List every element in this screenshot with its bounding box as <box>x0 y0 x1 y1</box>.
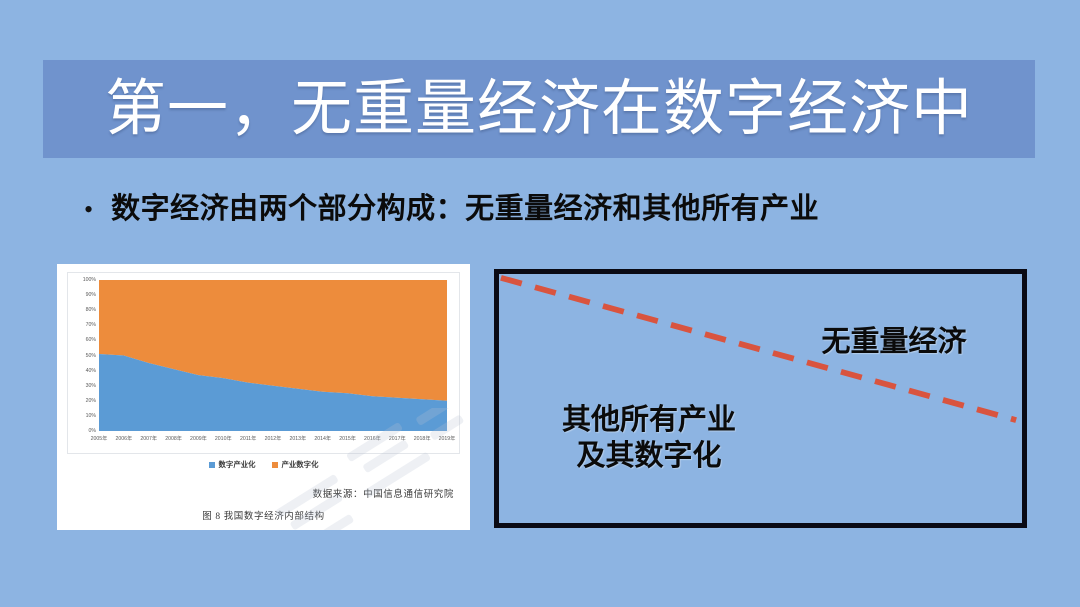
chart-x-tick: 2012年 <box>265 435 282 442</box>
chart-x-axis: 2005年2006年2007年2008年2009年2010年2011年2012年… <box>99 435 447 447</box>
legend-label: 数字产业化 <box>219 459 256 470</box>
chart-y-tick: 70% <box>86 322 96 328</box>
chart-x-tick: 2006年 <box>115 435 132 442</box>
chart-source-note: 数据来源：中国信息通信研究院 <box>67 486 460 500</box>
slide-canvas: 第一，无重量经济在数字经济中 • 数字经济由两个部分构成：无重量经济和其他所有产… <box>0 0 1080 607</box>
chart-plot-frame: 0%10%20%30%40%50%60%70%80%90%100% 2005年2… <box>67 272 460 454</box>
chart-x-tick: 2008年 <box>165 435 182 442</box>
concept-box: 无重量经济 其他所有产业 及其数字化 <box>494 269 1027 528</box>
legend-label: 产业数字化 <box>282 459 319 470</box>
label-weightless-economy: 无重量经济 <box>779 318 1009 360</box>
chart-x-tick: 2007年 <box>140 435 157 442</box>
chart-x-tick: 2005年 <box>91 435 108 442</box>
chart-y-tick: 40% <box>86 368 96 374</box>
chart-card: 0%10%20%30%40%50%60%70%80%90%100% 2005年2… <box>57 264 470 530</box>
page-title: 第一，无重量经济在数字经济中 <box>105 79 973 140</box>
bullet-dot-icon: • <box>84 197 93 223</box>
legend-swatch-icon <box>209 462 215 468</box>
chart-x-tick: 2015年 <box>339 435 356 442</box>
legend-swatch-icon <box>272 462 278 468</box>
stacked-area-svg <box>99 280 447 431</box>
chart-x-tick: 2017年 <box>389 435 406 442</box>
chart-x-tick: 2010年 <box>215 435 232 442</box>
chart-legend: 数字产业化产业数字化 <box>67 459 460 470</box>
chart-y-tick: 20% <box>86 398 96 404</box>
label-other-line2: 及其数字化 <box>519 438 779 474</box>
bullet-text: 数字经济由两个部分构成：无重量经济和其他所有产业 <box>111 185 819 227</box>
bullet-row: • 数字经济由两个部分构成：无重量经济和其他所有产业 <box>84 185 1024 227</box>
chart-x-tick: 2019年 <box>439 435 456 442</box>
concept-divider-svg <box>499 274 1022 523</box>
chart-x-tick: 2016年 <box>364 435 381 442</box>
chart-plot-area: 0%10%20%30%40%50%60%70%80%90%100% <box>99 280 447 431</box>
chart-x-tick: 2014年 <box>314 435 331 442</box>
chart-x-tick: 2013年 <box>289 435 306 442</box>
chart-x-tick: 2018年 <box>414 435 431 442</box>
chart-y-tick: 50% <box>86 353 96 359</box>
chart-x-tick: 2011年 <box>240 435 256 442</box>
chart-legend-item: 产业数字化 <box>272 459 319 470</box>
chart-y-tick: 90% <box>86 292 96 298</box>
chart-y-tick: 10% <box>86 413 96 419</box>
label-other-industries: 其他所有产业 及其数字化 <box>519 402 779 475</box>
chart-y-tick: 60% <box>86 337 96 343</box>
chart-y-tick: 0% <box>89 428 97 434</box>
chart-caption: 图 8 我国数字经济内部结构 <box>67 508 460 522</box>
chart-y-tick: 30% <box>86 383 96 389</box>
chart-y-tick: 80% <box>86 307 96 313</box>
chart-x-tick: 2009年 <box>190 435 207 442</box>
label-other-line1: 其他所有产业 <box>519 402 779 438</box>
slide-title-band: 第一，无重量经济在数字经济中 <box>43 60 1035 158</box>
chart-y-tick: 100% <box>83 277 96 283</box>
chart-legend-item: 数字产业化 <box>209 459 256 470</box>
